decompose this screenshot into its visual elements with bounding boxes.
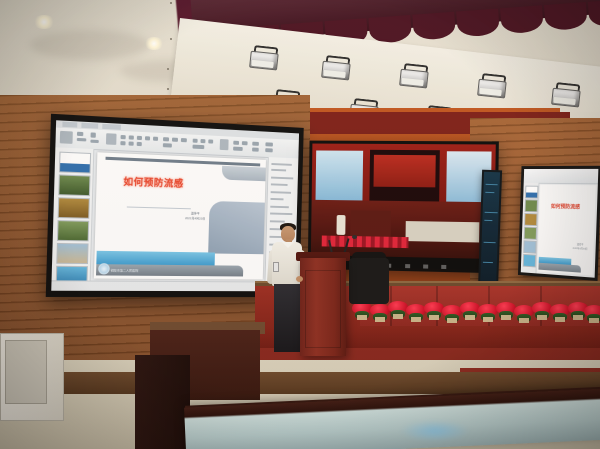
ceiling-stain xyxy=(30,30,150,60)
slide-decor-shape xyxy=(208,201,265,254)
stage-spotlight xyxy=(399,69,426,87)
slide-decor-shape xyxy=(222,166,266,181)
slide-presenter-block: 温传平 2021年4月20日 xyxy=(185,211,205,220)
flower-row xyxy=(352,300,600,322)
feed-podium xyxy=(351,210,391,238)
feed-screen-left xyxy=(315,151,363,206)
podium xyxy=(300,258,346,356)
powerpoint-window[interactable]: 如何预防流感 温传平 2021年4月20日 铜陵市第二人民医院 xyxy=(51,120,299,291)
ppt-thumbnail-pane[interactable] xyxy=(52,147,95,281)
speaker-badge xyxy=(273,262,279,272)
slide-thumbnail[interactable] xyxy=(58,174,90,196)
stage-spotlight xyxy=(477,79,504,97)
chair xyxy=(349,258,389,304)
slide-thumbnail[interactable] xyxy=(57,220,89,241)
speaker-legs xyxy=(274,284,300,352)
stage-spotlight xyxy=(321,61,348,79)
projection-screen-left[interactable]: 如何预防流感 温传平 2021年4月20日 铜陵市第二人民医院 xyxy=(46,114,304,297)
microphone-head-icon xyxy=(352,235,357,239)
slide-title: 如何预防流感 xyxy=(123,174,184,190)
desk-screen-glow xyxy=(400,420,470,442)
slide-footer-text: 铜陵市第二人民医院 xyxy=(111,268,139,272)
stage-spotlight xyxy=(551,88,578,106)
stage-spotlight xyxy=(249,51,276,69)
slide-title-right: 如何预防流感 xyxy=(551,203,580,211)
slide-thumbnail[interactable] xyxy=(58,197,90,219)
speaker-hand xyxy=(296,276,303,282)
foreground-pillar xyxy=(135,355,190,449)
side-info-display[interactable] xyxy=(478,170,502,293)
slide-canvas-right[interactable]: 如何预防流感 温传平 2021年4月20日 xyxy=(537,185,595,276)
downlight-icon xyxy=(144,37,164,50)
feed-flowers xyxy=(322,236,409,249)
feed-screen-center xyxy=(369,150,439,208)
slide-date: 2021年4月20日 xyxy=(185,216,205,221)
slide-divider xyxy=(127,206,191,209)
wall-cabinet[interactable] xyxy=(0,333,64,421)
presentation-date-right: 2021年4月20日 xyxy=(572,247,587,251)
auditorium-photo: 如何预防流感 温传平 2021年4月20日 铜陵市第二人民医院 xyxy=(0,0,600,449)
slide-canvas[interactable]: 如何预防流感 温传平 2021年4月20日 铜陵市第二人民医院 xyxy=(94,152,266,279)
feed-speaker xyxy=(336,215,345,235)
ceiling-screw xyxy=(170,2,172,4)
projection-screen-right[interactable]: 如何预防流感 温传平 2021年4月20日 xyxy=(518,166,600,281)
slide-top-accent xyxy=(106,157,261,167)
slide-presenter-right: 温传平 2021年4月20日 xyxy=(572,244,587,252)
slide-thumbnail[interactable] xyxy=(59,152,91,174)
ceiling-screw xyxy=(170,38,172,40)
cabinet-door[interactable] xyxy=(5,340,47,404)
ppt-thumbnail-pane-right[interactable] xyxy=(521,183,540,274)
ceiling-screw xyxy=(167,68,169,70)
ceiling-screw xyxy=(167,88,169,90)
slide-blue-bar xyxy=(96,251,215,266)
feed-table xyxy=(405,221,479,242)
downlight-icon xyxy=(33,15,55,29)
slide-thumbnail[interactable] xyxy=(56,243,88,264)
